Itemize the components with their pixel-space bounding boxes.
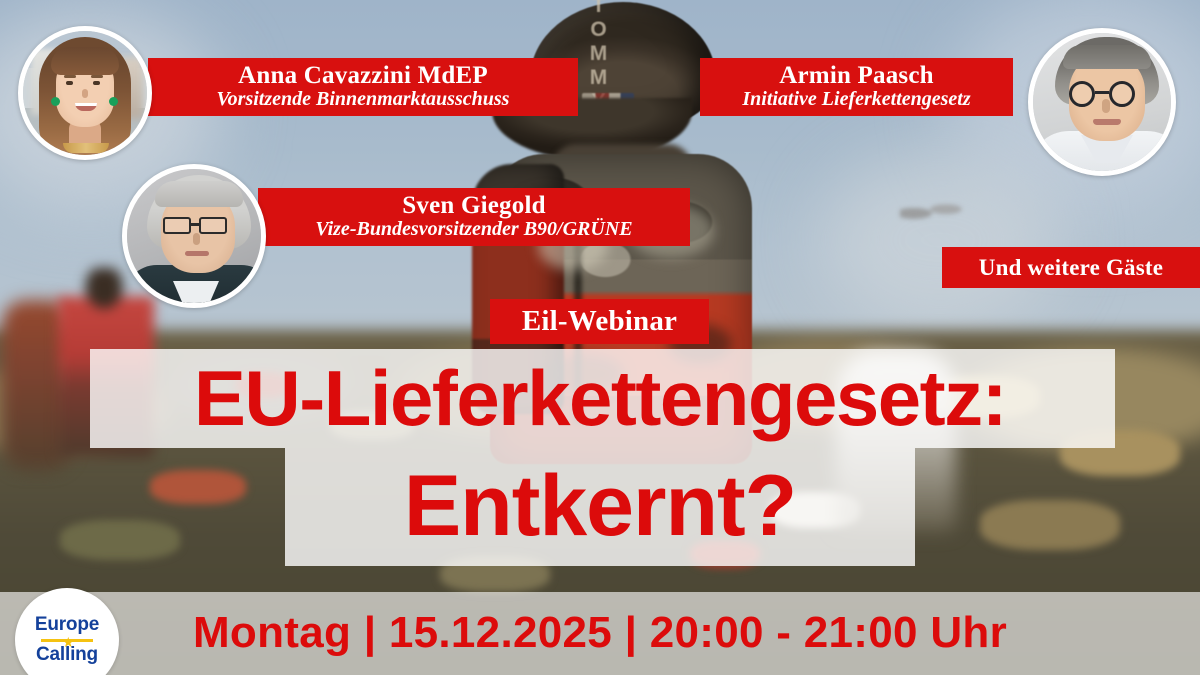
green-earring [109, 97, 118, 106]
eyeglasses-icon [1069, 81, 1095, 107]
speaker-role: Vorsitzende Binnenmarktausschuss [148, 89, 578, 110]
speaker-role: Vize-Bundesvorsitzender B90/GRÜNE [258, 219, 690, 240]
sky-haze-mid [820, 150, 1060, 330]
logo-line-2-wrap: Calling ★ [36, 644, 98, 665]
speaker-banner-sven-giegold: Sven Giegold Vize-Bundesvorsitzender B90… [258, 188, 690, 246]
avatar-sven-giegold [122, 164, 266, 308]
eyeglasses-icon [163, 217, 191, 234]
speaker-name: Sven Giegold [258, 193, 690, 219]
avatar-anna-cavazzini [18, 26, 152, 160]
speaker-role: Initiative Lieferkettengesetz [700, 89, 1013, 110]
eyeglasses-icon [1109, 81, 1135, 107]
logo-line-1: Europe [35, 614, 99, 635]
cap-brand-text: TOMMY [578, 16, 618, 92]
page-title-line-1: EU-Lieferkettengesetz: [0, 349, 1200, 448]
event-type-badge: Eil-Webinar [490, 299, 709, 344]
avatar-portrait [127, 169, 261, 303]
speaker-banner-anna-cavazzini: Anna Cavazzini MdEP Vorsitzende Binnenma… [148, 58, 578, 116]
green-earring [51, 97, 60, 106]
webinar-poster: TOMMY Anna Cavazzini MdEP Vorsitzende Bi… [0, 0, 1200, 675]
eyeglasses-icon [199, 217, 227, 234]
speaker-name: Armin Paasch [700, 63, 1013, 89]
speaker-banner-armin-paasch: Armin Paasch Initiative Lieferkettengese… [700, 58, 1013, 116]
necklace [63, 143, 109, 153]
avatar-armin-paasch [1028, 28, 1176, 176]
more-guests-badge: Und weitere Gäste [942, 247, 1200, 288]
event-datetime: Montag | 15.12.2025 | 20:00 - 21:00 Uhr [0, 594, 1200, 672]
star-icon: ★ [62, 638, 74, 650]
bird-icon [900, 196, 962, 226]
avatar-portrait [1033, 33, 1171, 171]
speaker-name: Anna Cavazzini MdEP [148, 63, 578, 89]
avatar-portrait [23, 31, 147, 155]
more-guests-label: Und weitere Gäste [979, 256, 1163, 280]
page-title-line-2: Entkernt? [0, 450, 1200, 562]
event-type-label: Eil-Webinar [522, 306, 677, 336]
